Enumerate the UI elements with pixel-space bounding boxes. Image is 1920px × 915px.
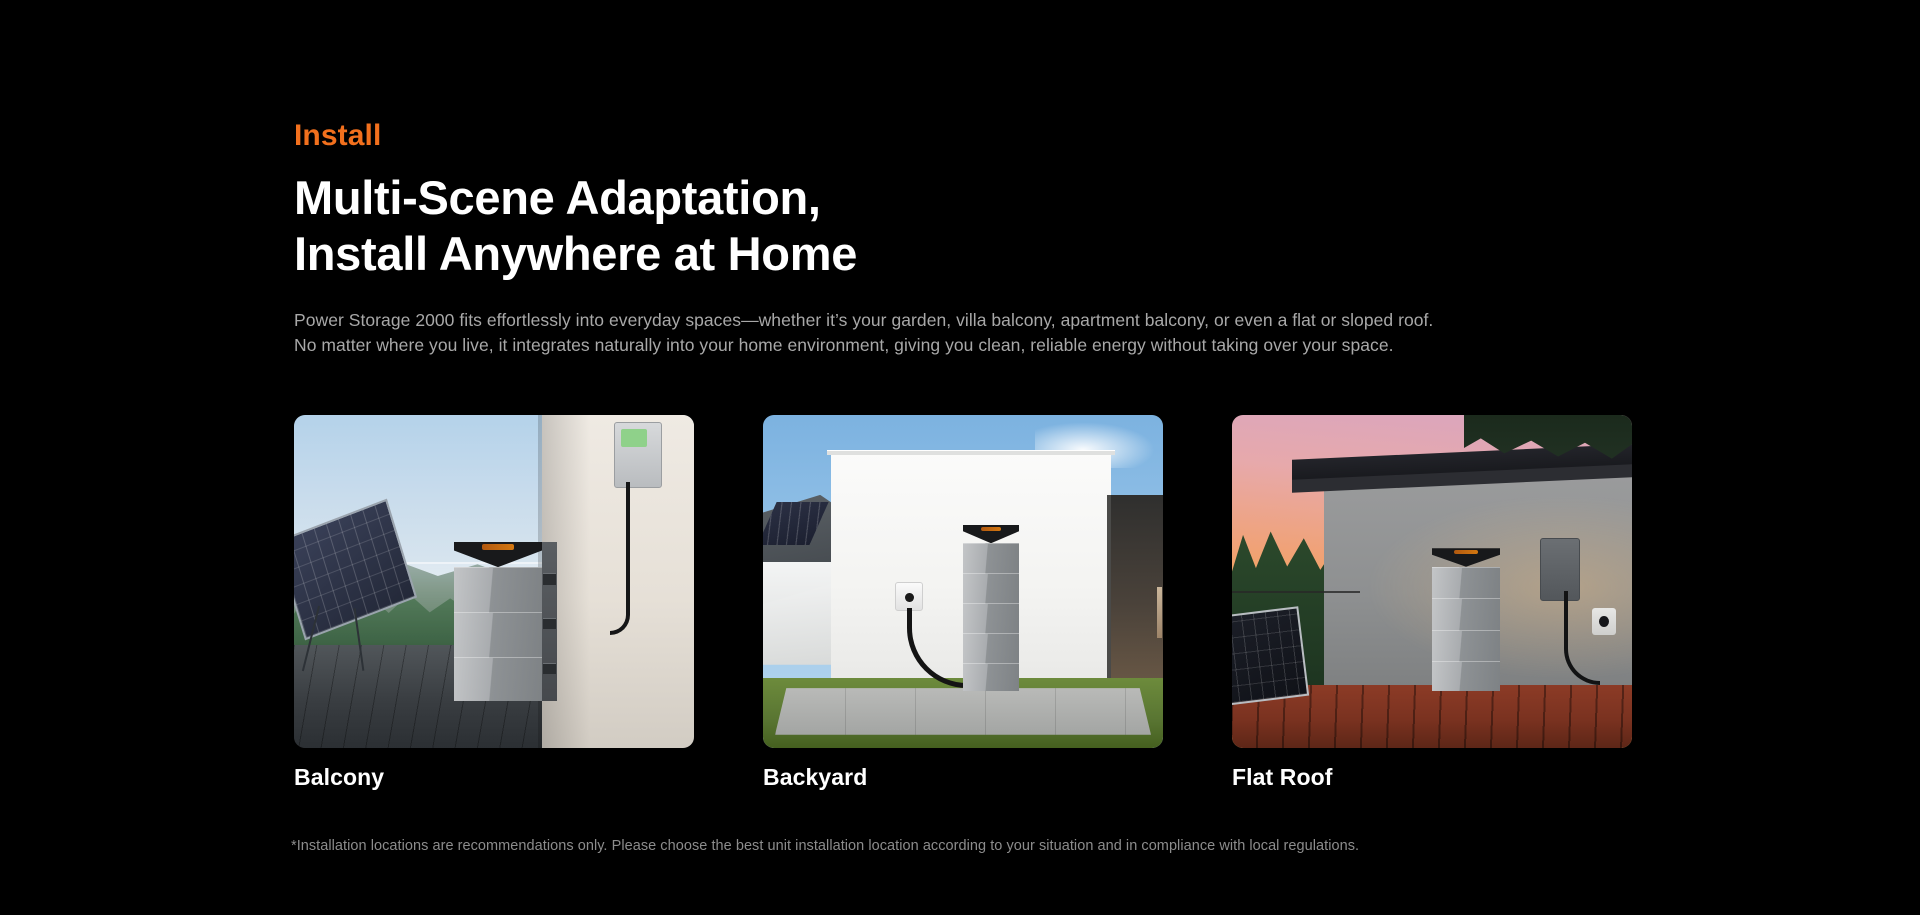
scenario-card-balcony[interactable]: Balcony [294,415,694,748]
battery-module-4 [963,633,1019,663]
scenario-caption: Flat Roof [1232,764,1333,791]
inverter-box [614,422,662,489]
battery-stack [1432,548,1500,691]
battery-module-2 [963,573,1019,603]
battery-module-3 [454,657,542,702]
section-eyebrow-label: Install [294,118,381,154]
battery-module-1 [454,567,542,612]
battery-module-4 [1432,661,1500,691]
balcony-scene-image [294,415,694,748]
brand-logo [482,544,514,550]
stone-patio [775,688,1151,735]
scenario-caption: Balcony [294,764,384,791]
backyard-scene-image [763,415,1163,748]
vent-slot-1 [543,573,557,584]
battery-module-1 [1432,567,1500,599]
battery-top-cap [963,525,1019,543]
battery-top-cap [454,542,542,568]
battery-stack [454,542,542,702]
interior-glimpse [1157,587,1162,638]
battery-module-3 [1432,630,1500,662]
power-cable [610,482,630,635]
roof-coping [827,450,1115,455]
installation-disclaimer: *Installation locations are recommendati… [291,838,1359,854]
scenario-caption: Backyard [763,764,867,791]
battery-module-2 [1432,598,1500,630]
install-section: Install Multi-Scene Adaptation, Install … [0,0,1920,915]
battery-module-5 [963,663,1019,691]
battery-stack [963,525,1019,692]
sliding-door [1107,495,1163,691]
inverter-display [621,429,647,447]
battery-top-cap [1432,548,1500,567]
brand-logo [1454,550,1478,554]
section-subcopy: Power Storage 2000 fits effortlessly int… [294,308,1654,358]
scenario-card-flat-roof[interactable]: Flat Roof [1232,415,1632,748]
vent-slot-3 [543,663,557,674]
battery-module-2 [454,612,542,657]
vent-slot-2 [543,618,557,629]
brand-logo [981,527,1001,531]
flat-roof-scene-image [1232,415,1632,748]
battery-module-3 [963,603,1019,633]
battery-module-1 [963,543,1019,573]
battery-side-panel [542,542,557,702]
wall-outlet [895,582,923,612]
install-scenario-cards: Balcony [294,415,1634,750]
solar-panel-icon [1232,607,1309,706]
scenario-card-backyard[interactable]: Backyard [763,415,1163,748]
section-headline: Multi-Scene Adaptation, Install Anywhere… [294,170,857,282]
